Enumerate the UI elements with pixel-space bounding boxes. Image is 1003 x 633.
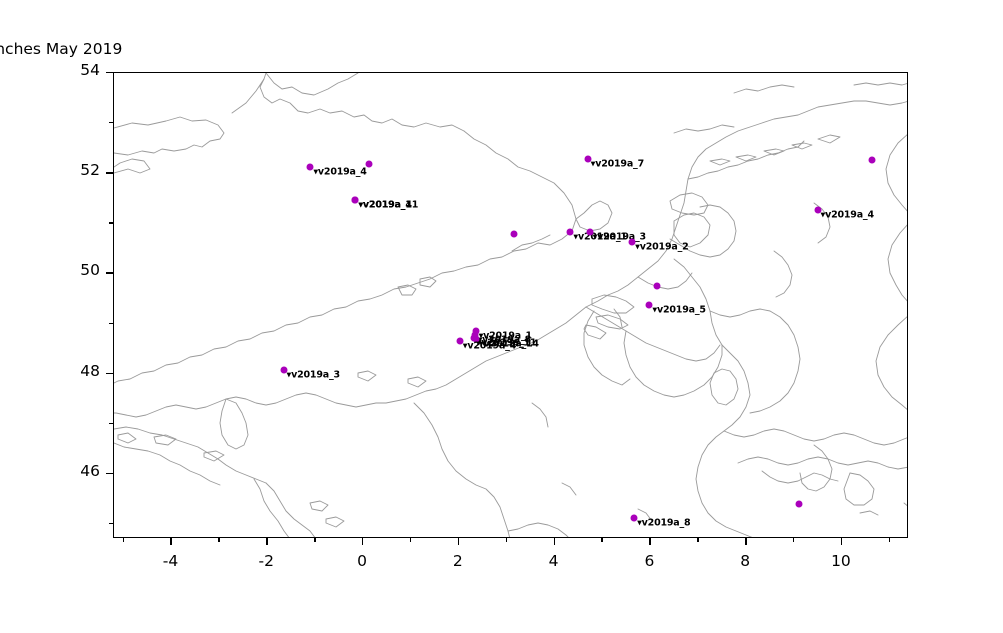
y-tick-minor bbox=[109, 323, 113, 324]
x-tick-minor bbox=[793, 538, 794, 542]
x-tick-minor bbox=[601, 538, 602, 542]
y-tick-major bbox=[106, 172, 113, 173]
data-point-label: ▾v2019a_8 bbox=[637, 518, 690, 528]
x-tick-minor bbox=[506, 538, 507, 542]
data-point-label: ▾v2019a_4 bbox=[313, 167, 366, 177]
y-tick-label-text: 50 bbox=[80, 261, 100, 279]
data-point-marker[interactable] bbox=[653, 283, 660, 290]
data-point-label: ▾v2019a_3 bbox=[287, 370, 340, 380]
data-point-label: ▾v2019a_2 bbox=[635, 243, 688, 253]
data-point-label: ▾v2019a_4 bbox=[358, 201, 411, 211]
data-point-marker[interactable] bbox=[365, 161, 372, 168]
map-coastlines bbox=[114, 73, 908, 538]
map-axes: ▾v2019a_4▾v2019a_1▾v2019a_11▾v2019a_4▾v2… bbox=[113, 72, 908, 538]
x-tick-major bbox=[362, 538, 363, 545]
y-tick-minor bbox=[109, 222, 113, 223]
x-tick-minor bbox=[410, 538, 411, 542]
y-tick-major bbox=[106, 72, 113, 73]
y-tick-label-text: 48 bbox=[80, 362, 100, 380]
page-title: Autoplot Launches May 2019 bbox=[0, 40, 1003, 58]
data-point-label: ▾v2019a_5 bbox=[652, 306, 705, 316]
figure-canvas: Autoplot Launches May 2019 bbox=[0, 0, 1003, 633]
x-tick-label-text: 8 bbox=[740, 552, 750, 570]
data-point-marker[interactable] bbox=[868, 157, 875, 164]
y-tick-label-text: 52 bbox=[80, 161, 100, 179]
x-tick-minor bbox=[697, 538, 698, 542]
x-tick-major bbox=[554, 538, 555, 545]
data-point-label: ▾v2019a_4 bbox=[821, 210, 874, 220]
data-point-marker[interactable] bbox=[795, 500, 802, 507]
x-tick-minor bbox=[218, 538, 219, 542]
x-tick-major bbox=[170, 538, 171, 545]
x-tick-label-text: 2 bbox=[453, 552, 463, 570]
y-tick-minor bbox=[109, 523, 113, 524]
x-tick-major bbox=[266, 538, 267, 545]
y-tick-minor bbox=[109, 122, 113, 123]
y-tick-minor bbox=[109, 423, 113, 424]
y-tick-major bbox=[106, 473, 113, 474]
data-point-label: ▾v2019a_7 bbox=[591, 159, 644, 169]
x-tick-major bbox=[458, 538, 459, 545]
data-point-marker[interactable] bbox=[510, 231, 517, 238]
y-tick-major bbox=[106, 272, 113, 273]
y-tick-label-text: 54 bbox=[80, 61, 100, 79]
x-tick-minor bbox=[123, 538, 124, 542]
x-tick-label-text: -2 bbox=[259, 552, 274, 570]
x-tick-label-text: 10 bbox=[831, 552, 851, 570]
x-tick-label-text: 4 bbox=[549, 552, 559, 570]
y-tick-label-text: 46 bbox=[80, 462, 100, 480]
plot-title-text: Autoplot Launches May 2019 bbox=[0, 40, 122, 58]
x-tick-label-text: 6 bbox=[644, 552, 654, 570]
y-tick-major bbox=[106, 373, 113, 374]
x-tick-minor bbox=[889, 538, 890, 542]
data-point-label: ▾v2019a_3 bbox=[593, 232, 646, 242]
x-tick-major bbox=[745, 538, 746, 545]
x-tick-label-text: 0 bbox=[357, 552, 367, 570]
data-point-label: ▾v2019a_4 bbox=[463, 341, 516, 351]
x-tick-major bbox=[649, 538, 650, 545]
x-tick-label-text: -4 bbox=[163, 552, 178, 570]
x-tick-minor bbox=[314, 538, 315, 542]
x-tick-major bbox=[841, 538, 842, 545]
